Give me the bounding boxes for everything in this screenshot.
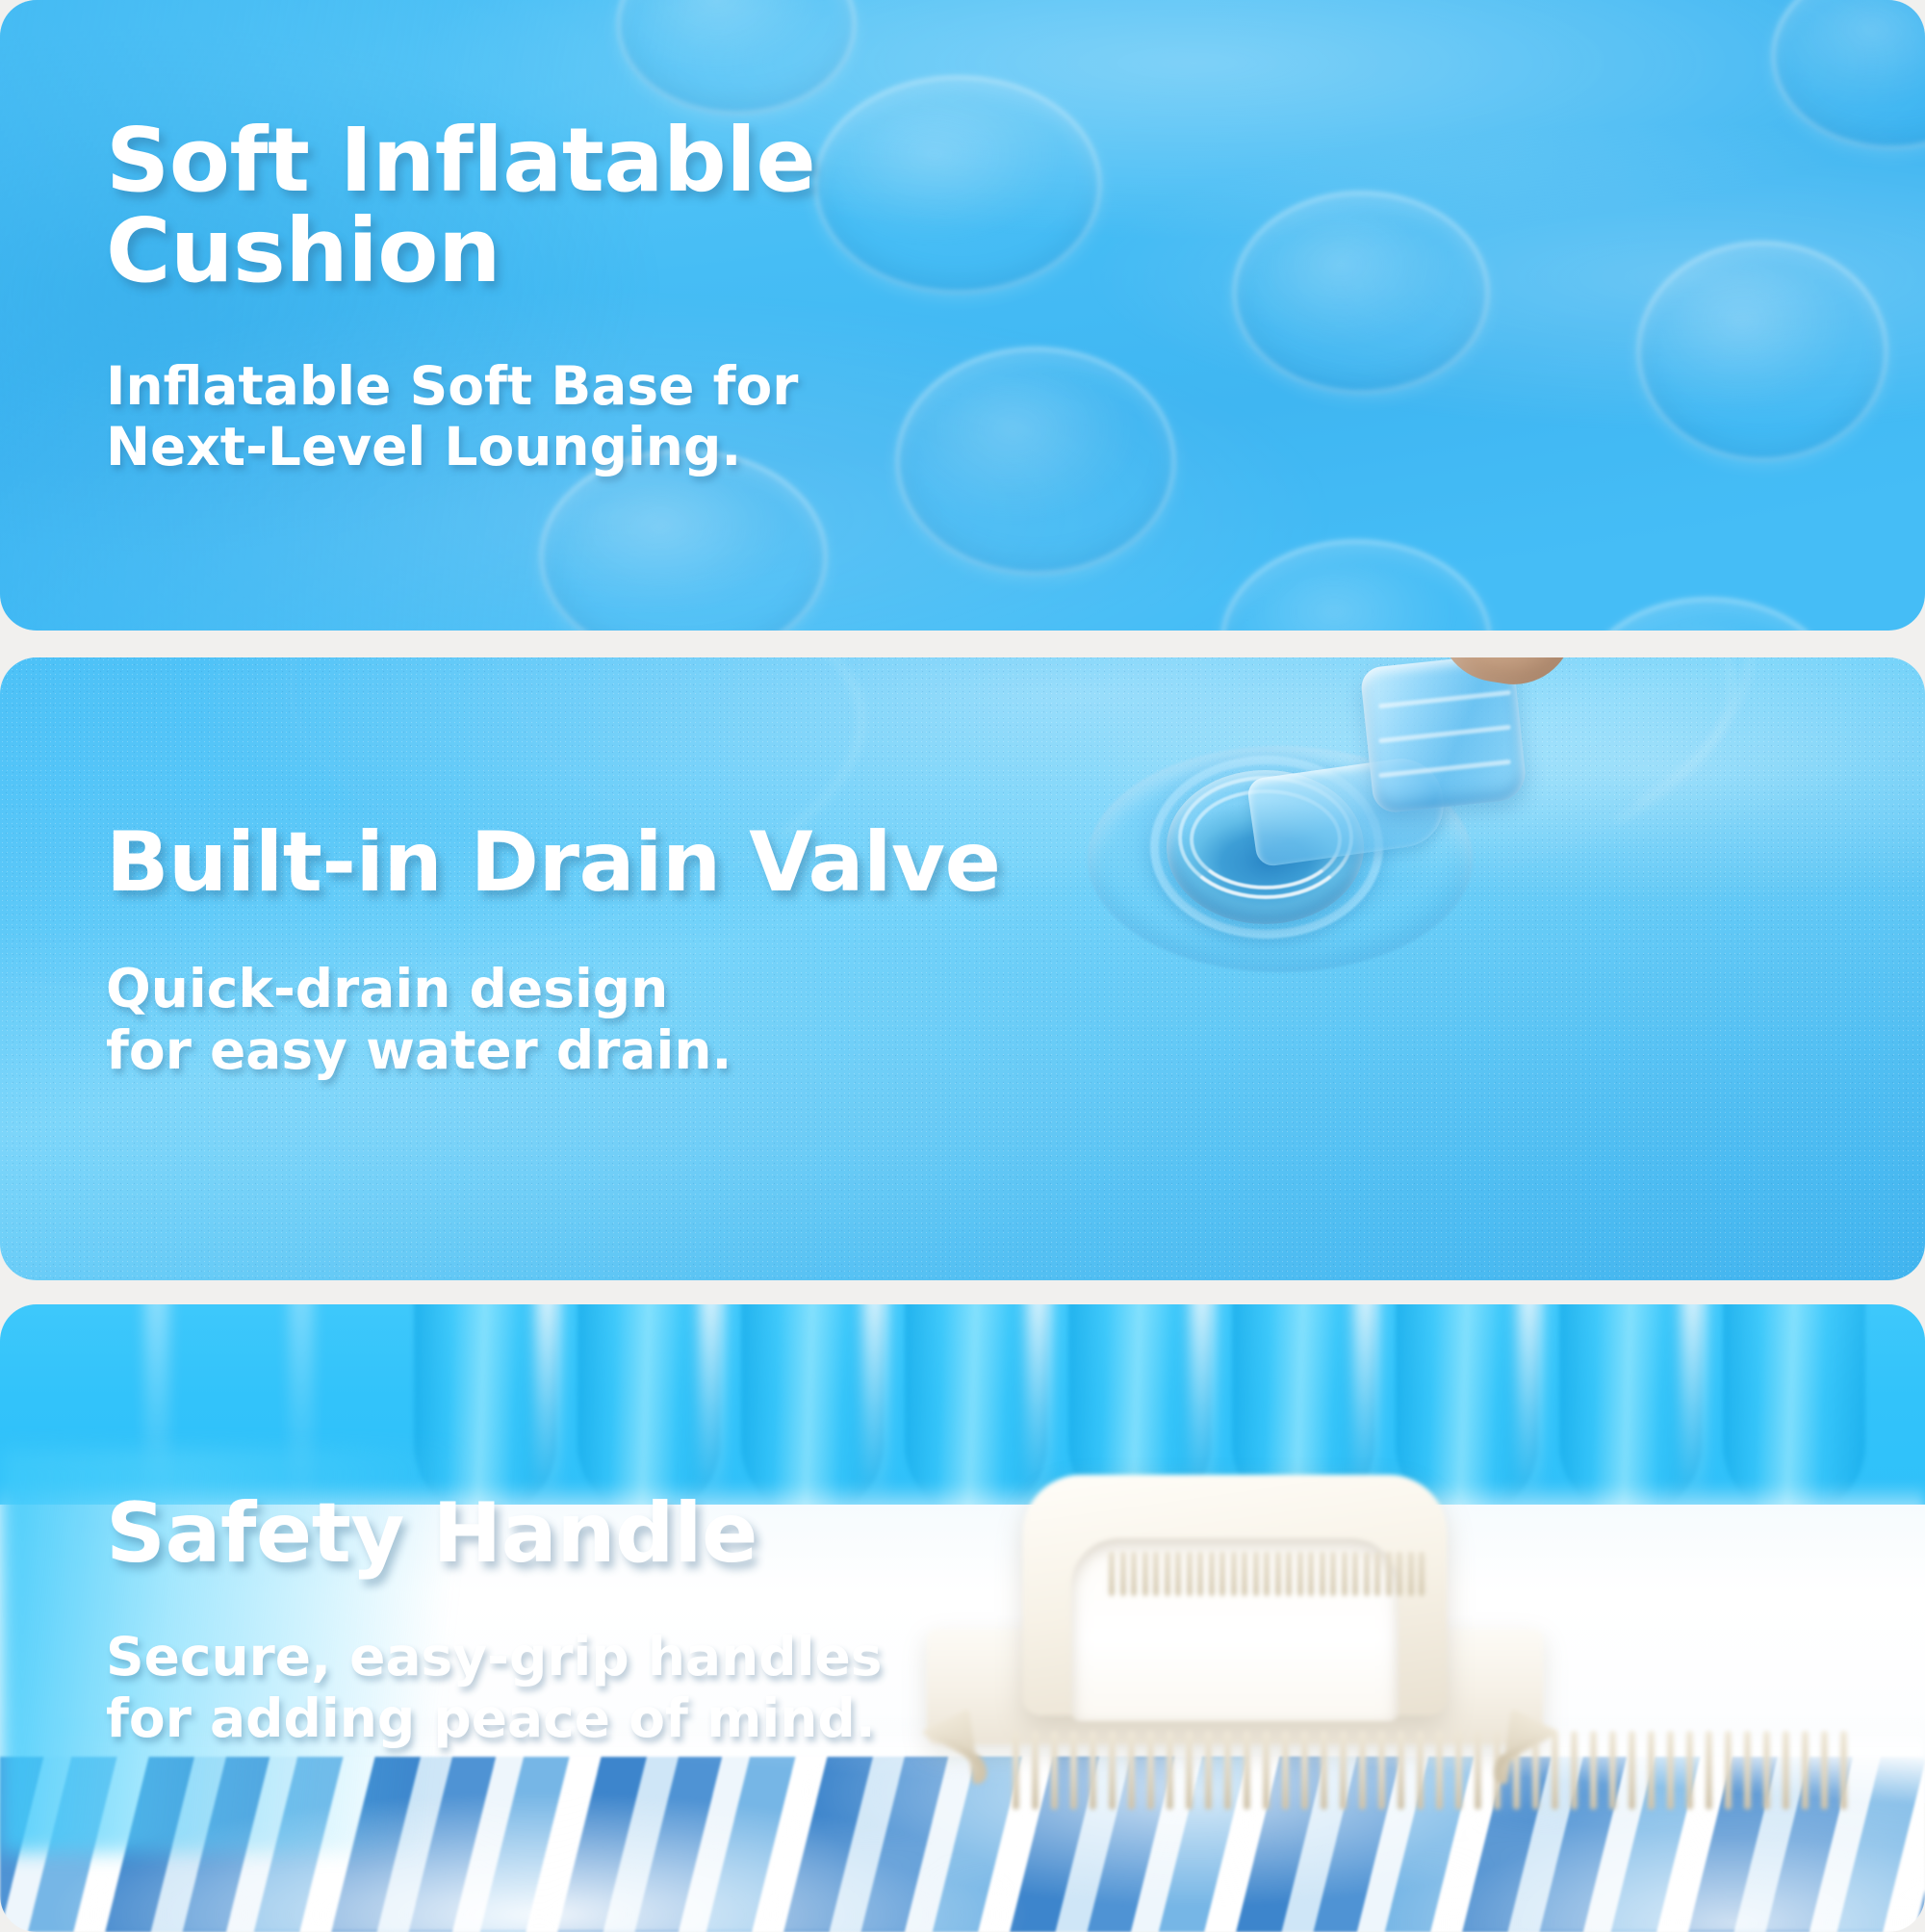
handle-bristle [1783,1731,1789,1810]
handle-comb-tooth [1320,1552,1325,1596]
handle-comb-tooth [1242,1552,1247,1596]
handle-comb-tooth [1397,1552,1402,1596]
handle-bristle [1455,1731,1462,1810]
handle-bristle [1340,1731,1347,1810]
drain-subtitle: Quick-drain design for easy water drain. [106,959,1000,1082]
handle-bristle [1744,1731,1751,1810]
handle-comb-tooth [1175,1552,1181,1596]
feature-panel-safety-handle: Safety Handle Secure, easy-grip handles … [0,1304,1925,1932]
handle-bristle [1359,1731,1366,1810]
handle-bristle [1648,1731,1655,1810]
handle-comb-tooth [1342,1552,1347,1596]
handle-bristle [1667,1731,1674,1810]
handle-comb-tooth [1308,1552,1314,1596]
handle-comb-tooth [1286,1552,1292,1596]
handle-comb-tooth [1408,1552,1414,1596]
handle-comb-tooth [1142,1552,1148,1596]
handle-bristle [1840,1731,1847,1810]
handle-comb-tooth [1209,1552,1215,1596]
handle-bristle [1128,1731,1135,1810]
handle-bristle [1244,1731,1250,1810]
handle-bristle [1552,1731,1558,1810]
drain-title: Built-in Drain Valve [106,821,1000,906]
handle-comb-tooth [1364,1552,1370,1596]
handle-bristle [1263,1731,1270,1810]
handle-bristle [1821,1731,1828,1810]
feature-panel-soft-inflatable-cushion: Soft Inflatable Cushion Inflatable Soft … [0,0,1925,631]
cushion-copy-block: Soft Inflatable Cushion Inflatable Soft … [106,116,815,478]
handle-bristle [1398,1731,1404,1810]
drain-copy-block: Built-in Drain Valve Quick-drain design … [106,821,1000,1081]
handle-bristle [1301,1731,1308,1810]
handle-comb-tooth [1419,1552,1424,1596]
handle-comb-tooth [1165,1552,1170,1596]
handle-bristle [1186,1731,1193,1810]
handle-comb-tooth [1109,1552,1115,1596]
handle-bristle [1013,1731,1019,1810]
handle-comb-tooth [1374,1552,1380,1596]
handle-bristle [1147,1731,1154,1810]
handle-comb-tooth [1297,1552,1303,1596]
handle-bristle [1205,1731,1212,1810]
handle-bristle [1167,1731,1173,1810]
handle-comb-tooth [1264,1552,1270,1596]
handle-bristle [1706,1731,1712,1810]
handle-bristle [1282,1731,1289,1810]
handle-copy-block: Safety Handle Secure, easy-grip handles … [106,1492,883,1749]
handle-comb-tooth [1330,1552,1336,1596]
handle-bristle [1417,1731,1424,1810]
handle-bristle [1802,1731,1809,1810]
handle-bristle [1763,1731,1770,1810]
cushion-title: Soft Inflatable Cushion [106,116,815,296]
handle-bristle [1090,1731,1096,1810]
handle-bristle [1686,1731,1693,1810]
handle-comb-tooth [1197,1552,1203,1596]
handle-comb-tooth [1153,1552,1159,1596]
handle-bristle [1725,1731,1732,1810]
handle-comb-tooth [1120,1552,1126,1596]
handle-comb-tooth [1275,1552,1281,1596]
handle-bristle [1051,1731,1058,1810]
handle-comb-tooth [1352,1552,1358,1596]
handle-bristle [1609,1731,1616,1810]
handle-comb-tooth [1231,1552,1237,1596]
handle-comb-tooth [1219,1552,1225,1596]
handle-bristle [1629,1731,1635,1810]
feature-panels-stage: Soft Inflatable Cushion Inflatable Soft … [0,0,1925,1932]
handle-comb-tooth [1386,1552,1392,1596]
feature-panel-built-in-drain-valve: Built-in Drain Valve Quick-drain design … [0,657,1925,1280]
handle-title: Safety Handle [106,1492,883,1577]
handle-comb-tooth [1131,1552,1137,1596]
handle-bristle [1475,1731,1481,1810]
handle-bristle [1224,1731,1231,1810]
handle-bristle [1378,1731,1385,1810]
handle-bristle [1571,1731,1578,1810]
handle-subtitle: Secure, easy-grip handles for adding pea… [106,1627,883,1750]
handle-bristle [1032,1731,1039,1810]
cushion-subtitle: Inflatable Soft Base for Next-Level Loun… [106,356,815,479]
handle-bristle [1070,1731,1077,1810]
handle-bristle [1590,1731,1597,1810]
handle-comb-tooth [1187,1552,1193,1596]
handle-comb-tooth [1253,1552,1259,1596]
handle-bristle [1109,1731,1116,1810]
handle-bristle [1436,1731,1443,1810]
handle-bristle [1321,1731,1327,1810]
